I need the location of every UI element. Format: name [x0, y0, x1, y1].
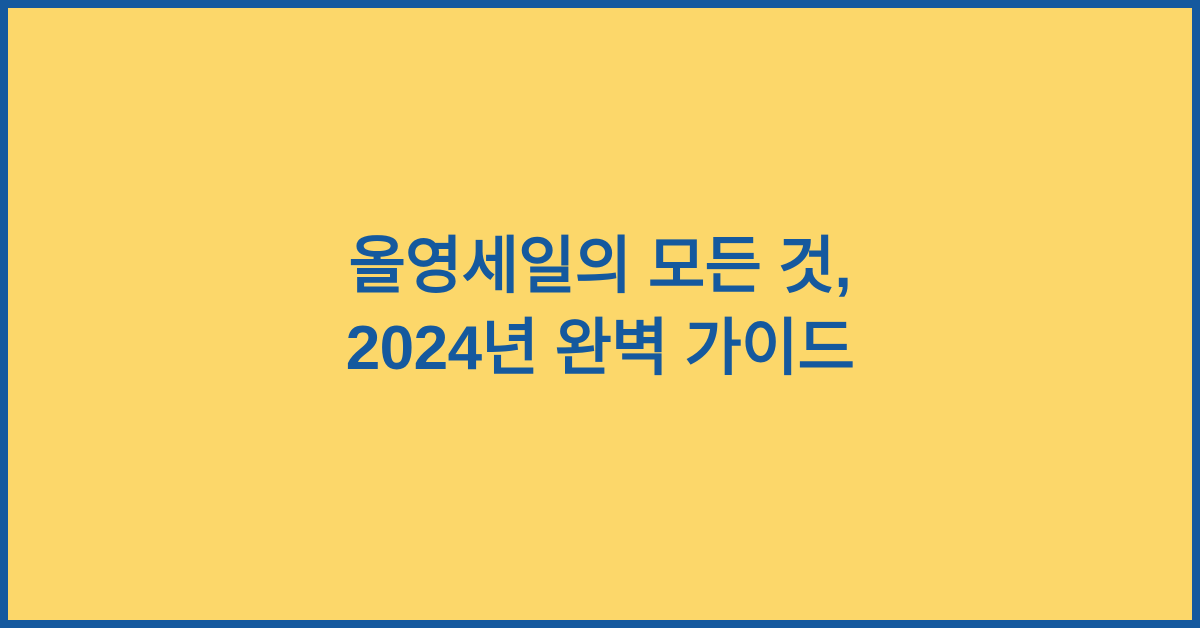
- headline-block: 올영세일의 모든 것, 2024년 완벽 가이드: [8, 226, 1192, 390]
- headline-line-1: 올영세일의 모든 것,: [349, 226, 852, 308]
- promo-banner: 올영세일의 모든 것, 2024년 완벽 가이드: [0, 0, 1200, 628]
- headline-line-2: 2024년 완벽 가이드: [346, 308, 855, 390]
